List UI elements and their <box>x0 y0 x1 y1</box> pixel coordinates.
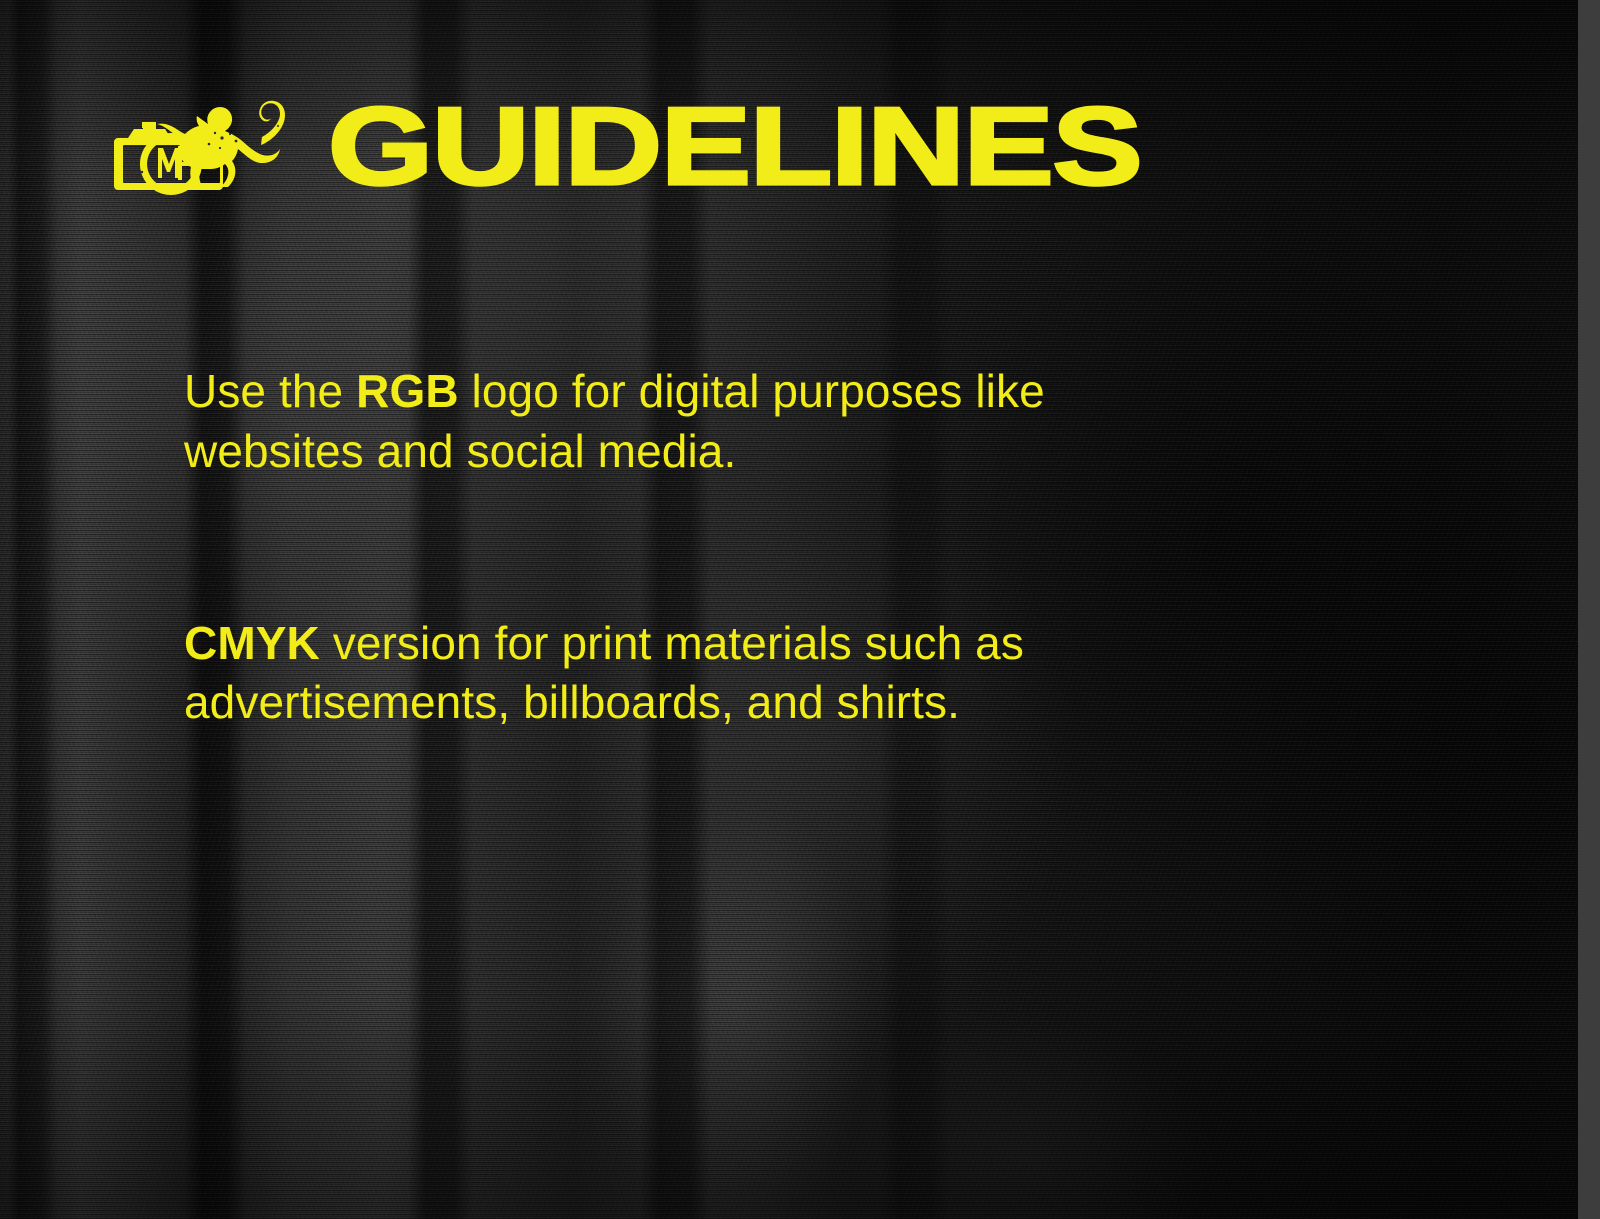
page-title: GUIDELINES <box>328 99 1141 196</box>
paragraph-rgb-emphasis: RGB <box>356 365 459 417</box>
paragraph-cmyk-emphasis: CMYK <box>184 617 320 669</box>
slide-header: GUIDELINES <box>112 100 954 196</box>
paragraph-cmyk: CMYK version for print materials such as… <box>184 614 1174 734</box>
brand-logo <box>112 100 302 196</box>
monkey-camera-icon <box>112 100 302 196</box>
guidelines-body: Use the RGB logo for digital purposes li… <box>184 362 1174 733</box>
paragraph-rgb: Use the RGB logo for digital purposes li… <box>184 362 1174 482</box>
guidelines-slide: GUIDELINES Use the RGB logo for digital … <box>0 0 1600 1219</box>
paragraph-rgb-lead: Use the <box>184 365 356 417</box>
right-edge-strip <box>1578 0 1600 1219</box>
